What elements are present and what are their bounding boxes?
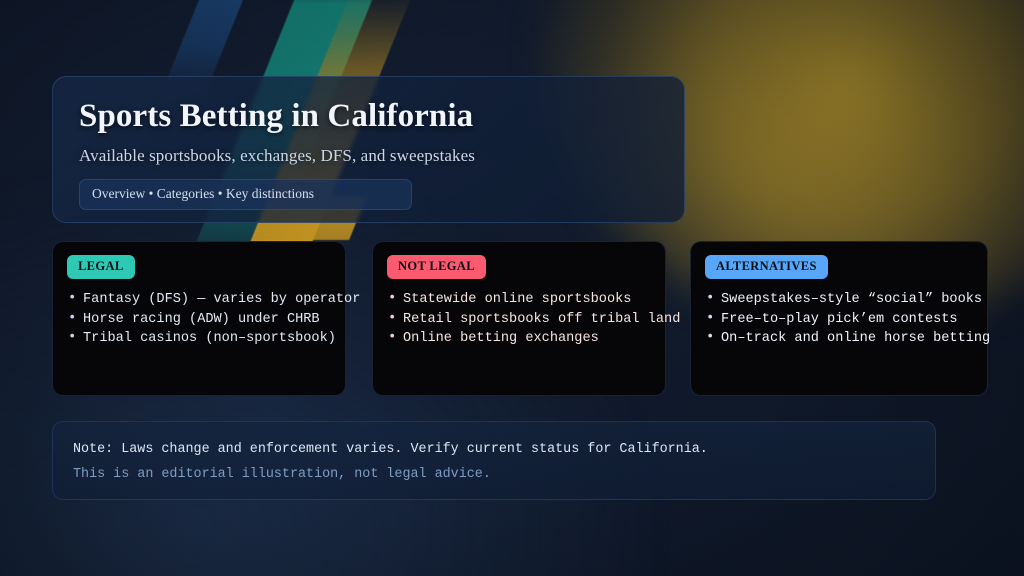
footer-note-card: Note: Laws change and enforcement varies… [52, 421, 936, 500]
list-item: On–track and online horse betting [705, 329, 987, 349]
category-card-alternatives: ALTERNATIVES Sweepstakes–style “social” … [690, 241, 988, 396]
status-badge-legal: LEGAL [67, 255, 135, 279]
note-primary-text: Note: Laws change and enforcement varies… [73, 437, 915, 462]
header-card: Sports Betting in California Available s… [52, 76, 685, 223]
list-item: Tribal casinos (non–sportsbook) [67, 329, 345, 349]
header-meta-pill: Overview • Categories • Key distinctions [79, 179, 412, 210]
list-item: Free–to–play pick’em contests [705, 310, 987, 330]
legal-items-list: Fantasy (DFS) — varies by operator Horse… [67, 290, 345, 349]
not-legal-items-list: Statewide online sportsbooks Retail spor… [387, 290, 665, 349]
status-badge-alternatives: ALTERNATIVES [705, 255, 828, 279]
list-item: Statewide online sportsbooks [387, 290, 665, 310]
alternatives-items-list: Sweepstakes–style “social” books Free–to… [705, 290, 987, 349]
list-item: Sweepstakes–style “social” books [705, 290, 987, 310]
category-card-not-legal: NOT LEGAL Statewide online sportsbooks R… [372, 241, 666, 396]
category-cards-row: LEGAL Fantasy (DFS) — varies by operator… [52, 241, 988, 396]
note-secondary-text: This is an editorial illustration, not l… [73, 462, 915, 487]
list-item: Online betting exchanges [387, 329, 665, 349]
category-card-legal: LEGAL Fantasy (DFS) — varies by operator… [52, 241, 346, 396]
slide-stage: Sports Betting in California Available s… [0, 0, 1024, 576]
list-item: Fantasy (DFS) — varies by operator [67, 290, 345, 310]
page-title: Sports Betting in California [79, 99, 658, 134]
status-badge-not-legal: NOT LEGAL [387, 255, 486, 279]
list-item: Retail sportsbooks off tribal land [387, 310, 665, 330]
page-subtitle: Available sportsbooks, exchanges, DFS, a… [79, 146, 658, 166]
list-item: Horse racing (ADW) under CHRB [67, 310, 345, 330]
